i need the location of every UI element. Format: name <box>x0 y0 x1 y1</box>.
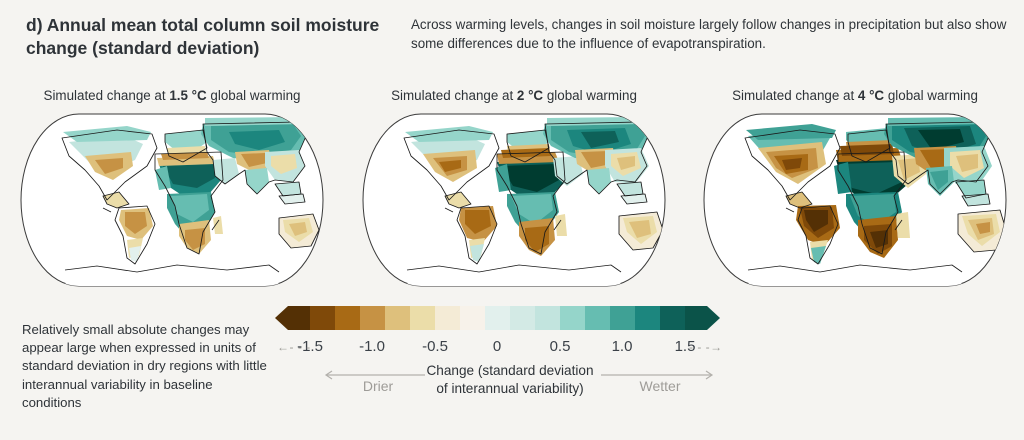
colorbar-swatch <box>660 306 685 330</box>
map-subtitle-pre: Simulated change at <box>391 88 517 103</box>
colorbar-axis-label-line2: of interannual variability) <box>436 381 583 396</box>
colorbar-tick: -0.5 <box>422 338 448 355</box>
colorbar-swatch <box>435 306 460 330</box>
colorbar-axis-label: Change (standard deviation of interannua… <box>400 362 620 398</box>
colorbar <box>275 306 745 342</box>
colorbar-swatch <box>635 306 660 330</box>
colorbar-swatch <box>460 306 485 330</box>
colorbar-swatch <box>560 306 585 330</box>
world-map-4c <box>690 108 1020 291</box>
map-panel-1p5c: Simulated change at 1.5 °C global warmin… <box>3 88 341 291</box>
colorbar-extend-low-cap <box>275 306 310 330</box>
colorbar-tick: 0 <box>493 338 501 355</box>
map-subtitle-post: global warming <box>207 88 301 103</box>
colorbar-swatch <box>310 306 335 330</box>
colorbar-swatch <box>410 306 435 330</box>
legend-note: Relatively small absolute changes may ap… <box>22 321 272 412</box>
map-warming-level: 1.5 °C <box>169 88 206 103</box>
map-warming-level: 2 °C <box>517 88 543 103</box>
map-subtitle-post: global warming <box>884 88 978 103</box>
direction-label-wetter: Wetter <box>605 378 715 394</box>
figure-intro-text: Across warming levels, changes in soil m… <box>411 16 1011 54</box>
world-map-2c <box>349 108 679 291</box>
colorbar-tick-labels: -1.5 -1.0 -0.5 0 0.5 1.0 1.5 <box>275 338 745 360</box>
colorbar-swatch <box>585 306 610 330</box>
map-subtitle: Simulated change at 4 °C global warming <box>686 88 1024 108</box>
colorbar-area: -1.5 -1.0 -0.5 0 0.5 1.0 1.5 ←- - - - - … <box>275 300 745 430</box>
colorbar-swatch <box>510 306 535 330</box>
map-panel-group: Simulated change at 1.5 °C global warmin… <box>0 88 1024 293</box>
colorbar-swatch <box>485 306 510 330</box>
colorbar-extend-low-label: ←- - - <box>277 340 311 354</box>
map-panel-2c: Simulated change at 2 °C global warming <box>345 88 683 291</box>
figure-title: d) Annual mean total column soil moistur… <box>26 14 396 61</box>
legend-area: Relatively small absolute changes may ap… <box>0 300 1024 440</box>
colorbar-tick: 0.5 <box>550 338 571 355</box>
direction-label-drier: Drier <box>323 378 433 394</box>
map-subtitle-post: global warming <box>543 88 637 103</box>
colorbar-swatches <box>275 306 720 330</box>
map-panel-4c: Simulated change at 4 °C global warming <box>686 88 1024 291</box>
colorbar-axis-label-line1: Change (standard deviation <box>426 363 593 378</box>
map-subtitle: Simulated change at 2 °C global warming <box>345 88 683 108</box>
map-subtitle-pre: Simulated change at <box>44 88 170 103</box>
colorbar-swatch <box>610 306 635 330</box>
colorbar-extend-high-label: - - -→ <box>689 340 723 354</box>
colorbar-swatch <box>535 306 560 330</box>
map-subtitle: Simulated change at 1.5 °C global warmin… <box>3 88 341 108</box>
world-map-1p5c <box>7 108 337 291</box>
colorbar-swatch <box>385 306 410 330</box>
colorbar-extend-high-cap <box>685 306 720 330</box>
colorbar-tick: 1.0 <box>612 338 633 355</box>
colorbar-tick: -1.0 <box>359 338 385 355</box>
map-warming-level: 4 °C <box>858 88 884 103</box>
map-subtitle-pre: Simulated change at <box>732 88 858 103</box>
colorbar-swatch <box>335 306 360 330</box>
colorbar-swatch <box>360 306 385 330</box>
